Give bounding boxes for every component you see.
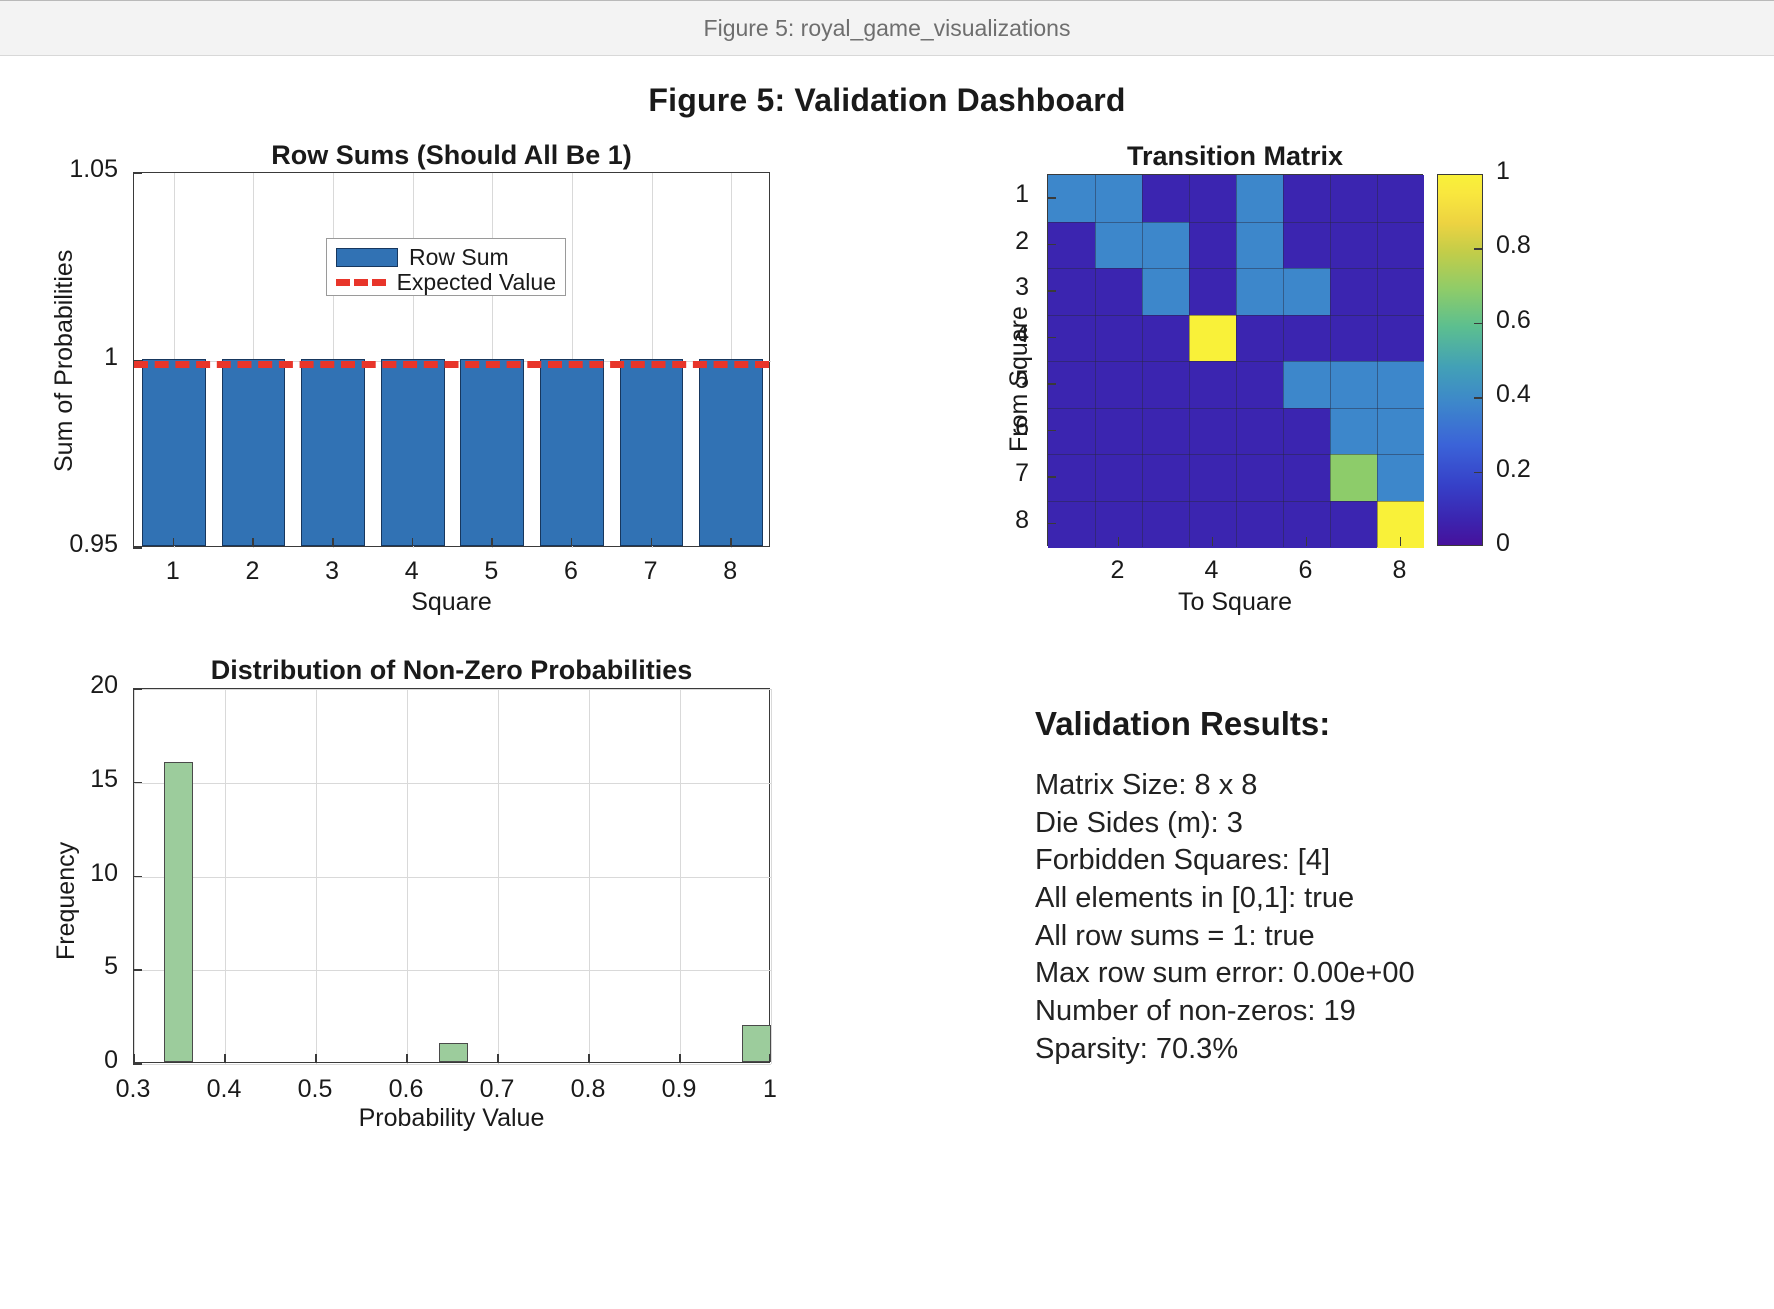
bar-row-sum <box>301 359 365 547</box>
colorbar-tick-label: 1 <box>1496 157 1510 186</box>
heatmap-cell <box>1095 408 1142 455</box>
gridline-horizontal <box>134 970 771 971</box>
figure-window-titlebar: Figure 5: royal_game_visualizations <box>0 0 1774 56</box>
transition-matrix-title: Transition Matrix <box>1047 141 1423 172</box>
heatmap-cell <box>1236 454 1283 501</box>
histogram-ytick-mark <box>133 969 142 971</box>
transition-matrix-ytick-mark <box>1047 197 1056 199</box>
heatmap-cell <box>1142 361 1189 408</box>
heatmap-cell <box>1095 222 1142 269</box>
colorbar-tick-mark <box>1474 472 1483 474</box>
row-sums-xtick: 2 <box>212 557 292 586</box>
heatmap-cell <box>1142 268 1189 315</box>
heatmap-cell <box>1330 222 1377 269</box>
row-sums-ytick-mark <box>133 172 142 174</box>
legend-label-expected-value: Expected Value <box>397 269 556 296</box>
validation-result-line: All elements in [0,1]: true <box>1035 880 1735 918</box>
validation-result-line: All row sums = 1: true <box>1035 918 1735 956</box>
validation-result-line: Number of non-zeros: 19 <box>1035 993 1735 1031</box>
row-sums-legend: Row Sum Expected Value <box>326 238 566 296</box>
heatmap-cell <box>1283 408 1330 455</box>
heatmap-cell <box>1236 175 1283 222</box>
legend-label-row-sum: Row Sum <box>409 244 509 271</box>
heatmap-cell <box>1142 315 1189 362</box>
gridline-horizontal <box>134 1064 771 1065</box>
heatmap-cell <box>1330 501 1377 548</box>
heatmap-cell <box>1236 361 1283 408</box>
transition-matrix-ytick: 3 <box>969 273 1029 302</box>
histogram-ytick-mark <box>133 782 142 784</box>
heatmap-cell <box>1142 501 1189 548</box>
transition-matrix-xtick-mark <box>1400 537 1402 546</box>
heatmap-gridline-horizontal <box>1048 408 1424 409</box>
heatmap-cell <box>1283 361 1330 408</box>
row-sums-xtick: 8 <box>690 557 770 586</box>
transition-matrix-ytick: 7 <box>969 459 1029 488</box>
row-sums-xtick: 3 <box>292 557 372 586</box>
heatmap-cell <box>1095 268 1142 315</box>
heatmap-cell <box>1330 361 1377 408</box>
histogram-xtick-mark <box>224 1054 226 1063</box>
histogram-plot-area <box>133 688 770 1063</box>
heatmap-gridline-horizontal <box>1048 501 1424 502</box>
transition-matrix-ytick-mark <box>1047 523 1056 525</box>
heatmap-cell <box>1142 408 1189 455</box>
row-sums-ytick-mark <box>133 360 142 362</box>
heatmap-cell <box>1189 408 1236 455</box>
histogram-xtick-mark <box>679 1054 681 1063</box>
validation-result-line: Matrix Size: 8 x 8 <box>1035 767 1735 805</box>
row-sums-ytick: 0.95 <box>0 530 118 559</box>
transition-matrix-xtick: 2 <box>1078 556 1158 585</box>
heatmap-cell <box>1236 408 1283 455</box>
bar-row-sum <box>540 359 604 547</box>
transition-matrix-xtick: 6 <box>1266 556 1346 585</box>
row-sums-xtick: 1 <box>133 557 213 586</box>
transition-matrix-ytick: 1 <box>969 180 1029 209</box>
row-sums-ytick: 1.05 <box>0 155 118 184</box>
transition-matrix-xtick-mark <box>1306 537 1308 546</box>
histogram-ytick: 20 <box>0 671 118 700</box>
row-sums-xtick-mark <box>571 538 573 547</box>
gridline-vertical <box>771 689 772 1064</box>
panel-validation-results: Validation Results: Matrix Size: 8 x 8Di… <box>1035 705 1735 1069</box>
row-sums-xtick-mark <box>412 538 414 547</box>
colorbar-tick-label: 0 <box>1496 529 1510 558</box>
legend-entry-expected-value: Expected Value <box>336 270 556 295</box>
transition-matrix-xtick-mark <box>1118 537 1120 546</box>
heatmap-cell <box>1283 315 1330 362</box>
colorbar-tick-mark <box>1474 323 1483 325</box>
heatmap-cell <box>1236 315 1283 362</box>
bar-histogram <box>439 1043 468 1062</box>
heatmap-cell <box>1189 454 1236 501</box>
validation-result-line: Forbidden Squares: [4] <box>1035 842 1735 880</box>
histogram-ytick: 0 <box>0 1046 118 1075</box>
histogram-ytick-mark <box>133 1063 142 1065</box>
heatmap-cell <box>1377 408 1424 455</box>
heatmap-cell <box>1377 361 1424 408</box>
legend-swatch-dashed-line-icon <box>336 279 386 286</box>
heatmap-cell <box>1330 175 1377 222</box>
heatmap-cell <box>1236 501 1283 548</box>
transition-matrix-ytick: 6 <box>969 413 1029 442</box>
legend-swatch-bar-icon <box>336 248 398 267</box>
heatmap-cell <box>1095 454 1142 501</box>
heatmap-cell <box>1189 268 1236 315</box>
histogram-xtick-mark <box>133 1054 135 1063</box>
expected-value-line <box>134 361 769 368</box>
heatmap-gridline-horizontal <box>1048 222 1424 223</box>
validation-result-line: Sparsity: 70.3% <box>1035 1031 1735 1069</box>
bar-row-sum <box>142 359 206 547</box>
heatmap-cell <box>1142 175 1189 222</box>
transition-matrix-ytick-mark <box>1047 337 1056 339</box>
bar-histogram <box>742 1025 771 1063</box>
heatmap-cell <box>1236 268 1283 315</box>
heatmap-cell <box>1189 222 1236 269</box>
heatmap-cell <box>1330 408 1377 455</box>
histogram-xtick-mark <box>315 1054 317 1063</box>
colorbar-tick-label: 0.2 <box>1496 455 1531 484</box>
transition-matrix-colorbar <box>1437 174 1483 546</box>
bar-histogram <box>164 762 193 1062</box>
heatmap-cell <box>1330 315 1377 362</box>
transition-matrix-xlabel: To Square <box>1047 588 1423 617</box>
transition-matrix-ytick-mark <box>1047 430 1056 432</box>
heatmap-cell <box>1377 222 1424 269</box>
colorbar-tick-label: 0.6 <box>1496 306 1531 335</box>
row-sums-xtick-mark <box>730 538 732 547</box>
histogram-title: Distribution of Non-Zero Probabilities <box>133 655 770 686</box>
validation-result-line: Max row sum error: 0.00e+00 <box>1035 955 1735 993</box>
validation-result-line: Die Sides (m): 3 <box>1035 805 1735 843</box>
dashboard-title: Figure 5: Validation Dashboard <box>0 82 1774 119</box>
row-sums-ytick-mark <box>133 547 142 549</box>
row-sums-xtick-mark <box>491 538 493 547</box>
heatmap-cell <box>1142 222 1189 269</box>
transition-matrix-ytick-mark <box>1047 383 1056 385</box>
heatmap-cell <box>1142 454 1189 501</box>
gridline-horizontal <box>134 783 771 784</box>
row-sums-xtick-mark <box>173 538 175 547</box>
heatmap-gridline-horizontal <box>1048 315 1424 316</box>
heatmap-cell <box>1095 175 1142 222</box>
validation-results-heading: Validation Results: <box>1035 705 1735 743</box>
gridline-horizontal <box>134 877 771 878</box>
row-sums-xtick: 6 <box>531 557 611 586</box>
heatmap-cell <box>1377 315 1424 362</box>
transition-matrix-plot-area <box>1047 174 1423 546</box>
row-sums-xlabel: Square <box>133 588 770 617</box>
histogram-ytick-mark <box>133 688 142 690</box>
heatmap-cell <box>1283 222 1330 269</box>
row-sums-xtick: 5 <box>451 557 531 586</box>
figure-window-title: Figure 5: royal_game_visualizations <box>704 15 1071 42</box>
histogram-xtick-mark <box>406 1054 408 1063</box>
heatmap-gridline-horizontal <box>1048 454 1424 455</box>
heatmap-cell <box>1095 361 1142 408</box>
transition-matrix-ytick: 4 <box>969 320 1029 349</box>
heatmap-cell <box>1189 315 1236 362</box>
heatmap-cell <box>1189 175 1236 222</box>
histogram-ytick: 5 <box>0 952 118 981</box>
heatmap-cell <box>1330 454 1377 501</box>
heatmap-cell <box>1283 454 1330 501</box>
row-sums-xtick-mark <box>651 538 653 547</box>
heatmap-cell <box>1283 268 1330 315</box>
transition-matrix-xtick-mark <box>1212 537 1214 546</box>
transition-matrix-xtick: 4 <box>1172 556 1252 585</box>
heatmap-cell <box>1377 454 1424 501</box>
histogram-xtick-mark <box>497 1054 499 1063</box>
row-sums-xtick-mark <box>332 538 334 547</box>
heatmap-gridline-horizontal <box>1048 361 1424 362</box>
colorbar-tick-label: 0.8 <box>1496 231 1531 260</box>
row-sums-xtick: 4 <box>372 557 452 586</box>
histogram-xlabel: Probability Value <box>133 1104 770 1133</box>
row-sums-title: Row Sums (Should All Be 1) <box>133 140 770 171</box>
colorbar-tick-mark <box>1474 248 1483 250</box>
transition-matrix-ytick: 2 <box>969 227 1029 256</box>
heatmap-cell <box>1377 175 1424 222</box>
histogram-ytick-mark <box>133 876 142 878</box>
histogram-xtick: 1 <box>715 1075 825 1104</box>
bar-row-sum <box>620 359 684 547</box>
transition-matrix-ytick-mark <box>1047 244 1056 246</box>
transition-matrix-ytick-mark <box>1047 476 1056 478</box>
histogram-xtick-mark <box>588 1054 590 1063</box>
bar-row-sum <box>222 359 286 547</box>
row-sums-plot-area <box>133 172 770 547</box>
row-sums-xtick-mark <box>252 538 254 547</box>
transition-matrix-ytick: 8 <box>969 506 1029 535</box>
heatmap-cell <box>1283 175 1330 222</box>
row-sums-xtick: 7 <box>611 557 691 586</box>
heatmap-cell <box>1236 222 1283 269</box>
heatmap-gridline-horizontal <box>1048 268 1424 269</box>
heatmap-cell <box>1377 268 1424 315</box>
heatmap-cell <box>1330 268 1377 315</box>
transition-matrix-xtick: 8 <box>1360 556 1440 585</box>
row-sums-ytick: 1 <box>0 343 118 372</box>
heatmap-cell <box>1189 361 1236 408</box>
gridline-horizontal <box>134 689 771 690</box>
colorbar-tick-label: 0.4 <box>1496 380 1531 409</box>
bar-row-sum <box>460 359 524 547</box>
validation-results-list: Matrix Size: 8 x 8Die Sides (m): 3Forbid… <box>1035 767 1735 1069</box>
bar-row-sum <box>699 359 763 547</box>
legend-entry-row-sum: Row Sum <box>336 245 556 270</box>
heatmap-cell <box>1095 315 1142 362</box>
bar-row-sum <box>381 359 445 547</box>
transition-matrix-ytick-mark <box>1047 290 1056 292</box>
transition-matrix-ytick: 5 <box>969 366 1029 395</box>
histogram-xtick-mark <box>769 1054 771 1063</box>
histogram-ytick: 10 <box>0 859 118 888</box>
colorbar-tick-mark <box>1474 397 1483 399</box>
histogram-ytick: 15 <box>0 765 118 794</box>
